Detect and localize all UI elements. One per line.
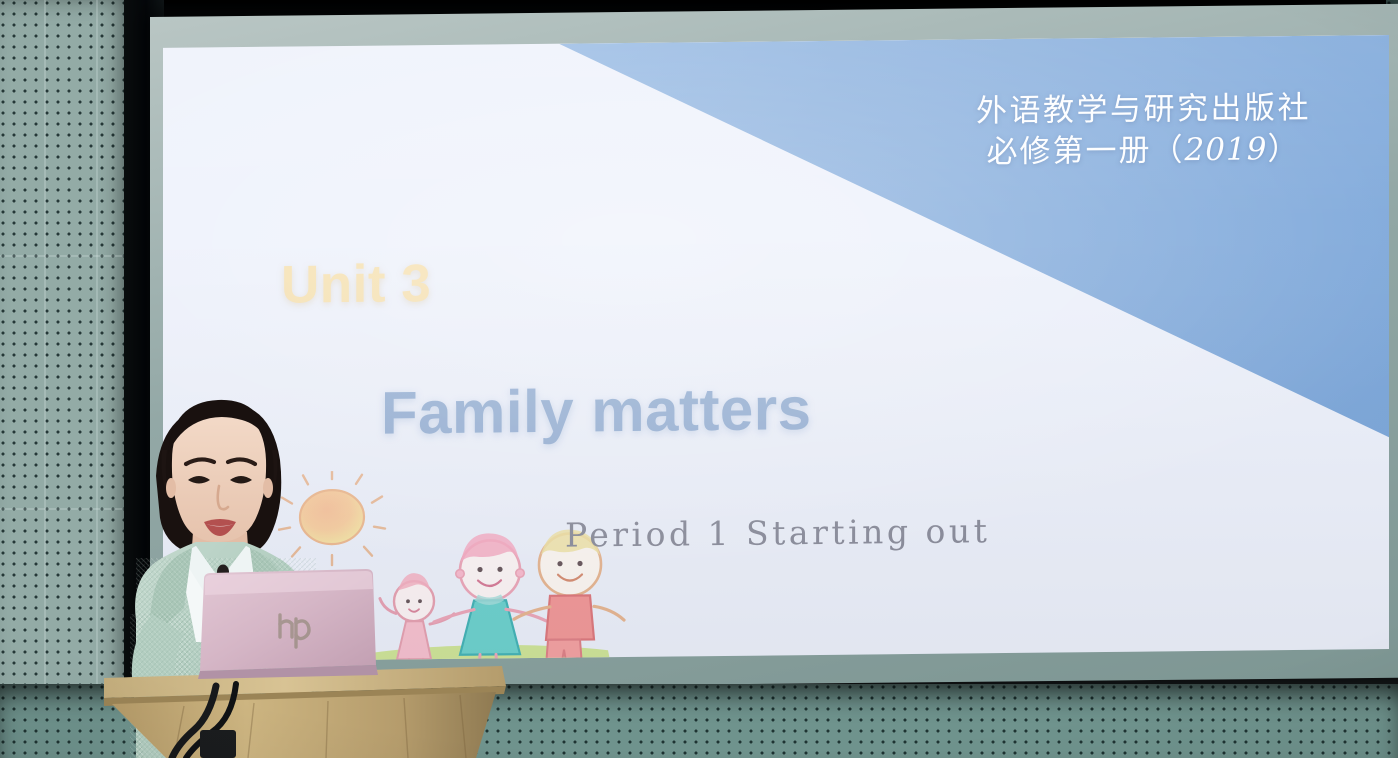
publisher-edition: 必修第一册（2019）	[976, 129, 1311, 174]
presenter-laptop	[196, 567, 380, 679]
unit-label: Unit 3	[281, 253, 431, 316]
slide-title: Family matters	[381, 374, 812, 448]
wall-seam	[0, 255, 132, 257]
publisher-name: 外语教学与研究出版社	[976, 88, 1311, 133]
classroom-photo: 外语教学与研究出版社 必修第一册（2019） Unit 3 Family mat…	[0, 0, 1398, 758]
wall-seam	[44, 0, 46, 758]
publisher-credit: 外语教学与研究出版社 必修第一册（2019）	[976, 88, 1311, 174]
publisher-year: 2019	[1185, 132, 1268, 169]
mother-figure	[434, 533, 546, 662]
slide-subtitle: Period 1 Starting out	[565, 511, 990, 554]
